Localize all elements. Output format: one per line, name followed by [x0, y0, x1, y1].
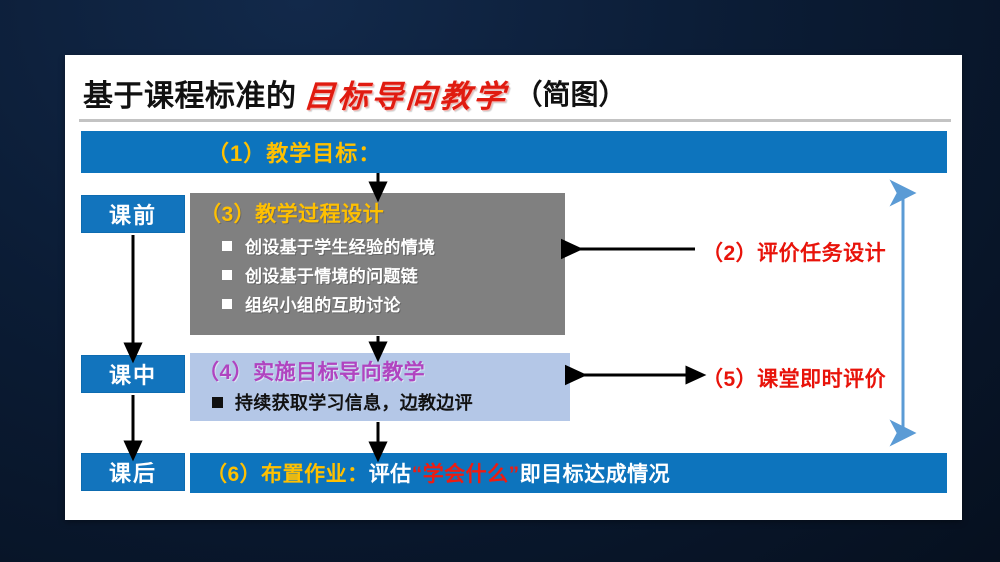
page-title: 基于课程标准的 目标导向教学 （简图）: [83, 67, 945, 119]
title-emphasis: 目标导向教学: [302, 71, 509, 116]
stage-label: 课中: [109, 358, 157, 390]
stage-badge-before-class[interactable]: 课前: [81, 195, 185, 233]
step-3-bullet-list: 创设基于学生经验的情境 创设基于情境的问题链 组织小组的互助讨论: [200, 233, 565, 316]
list-item: 创设基于情境的问题链: [222, 262, 565, 287]
list-item: 持续获取学习信息，边教边评: [212, 389, 570, 415]
list-item-label: 创设基于学生经验的情境: [245, 233, 435, 258]
step-4-heading: （4）实施目标导向教学: [198, 356, 570, 386]
step-6-label-tail: 即目标达成情况: [520, 458, 671, 488]
title-tail: （简图）: [515, 73, 627, 113]
stage-label: 课前: [109, 198, 157, 230]
step-6-label-red: “学会什么”: [412, 458, 520, 488]
list-item: 创设基于学生经验的情境: [222, 233, 565, 258]
list-item-label: 持续获取学习信息，边教边评: [235, 389, 473, 415]
stage-badge-after-class[interactable]: 课后: [81, 453, 185, 491]
content-card: 基于课程标准的 目标导向教学 （简图） （1）教学目标： 课前 课中 课后 （3…: [65, 55, 962, 520]
square-bullet-icon: [212, 397, 223, 408]
step-1-label: （1）教学目标：: [207, 136, 381, 168]
step-4-box[interactable]: （4）实施目标导向教学 持续获取学习信息，边教边评: [190, 353, 570, 421]
step-2-label[interactable]: （2）评价任务设计: [702, 237, 886, 267]
step-6-bar[interactable]: （6）布置作业： 评估 “学会什么” 即目标达成情况: [190, 453, 947, 493]
square-bullet-icon: [222, 270, 232, 280]
list-item-label: 创设基于情境的问题链: [245, 262, 418, 287]
list-item: 组织小组的互助讨论: [222, 291, 565, 316]
slide-canvas: 基于课程标准的 目标导向教学 （简图） （1）教学目标： 课前 课中 课后 （3…: [0, 0, 1000, 562]
step-3-box[interactable]: （3）教学过程设计 创设基于学生经验的情境 创设基于情境的问题链 组织小组的互助…: [190, 193, 565, 335]
step-5-label[interactable]: （5）课堂即时评价: [702, 363, 886, 393]
title-divider: [79, 119, 951, 122]
step-1-bar[interactable]: （1）教学目标：: [81, 131, 947, 173]
square-bullet-icon: [222, 241, 232, 251]
stage-label: 课后: [109, 456, 157, 488]
step-6-label-gold: （6）布置作业：: [206, 458, 369, 488]
list-item-label: 组织小组的互助讨论: [245, 291, 401, 316]
stage-badge-during-class[interactable]: 课中: [81, 355, 185, 393]
square-bullet-icon: [222, 299, 232, 309]
step-6-label-eval: 评估: [369, 458, 412, 488]
step-3-heading: （3）教学过程设计: [200, 198, 565, 228]
title-lead: 基于课程标准的: [83, 71, 297, 115]
